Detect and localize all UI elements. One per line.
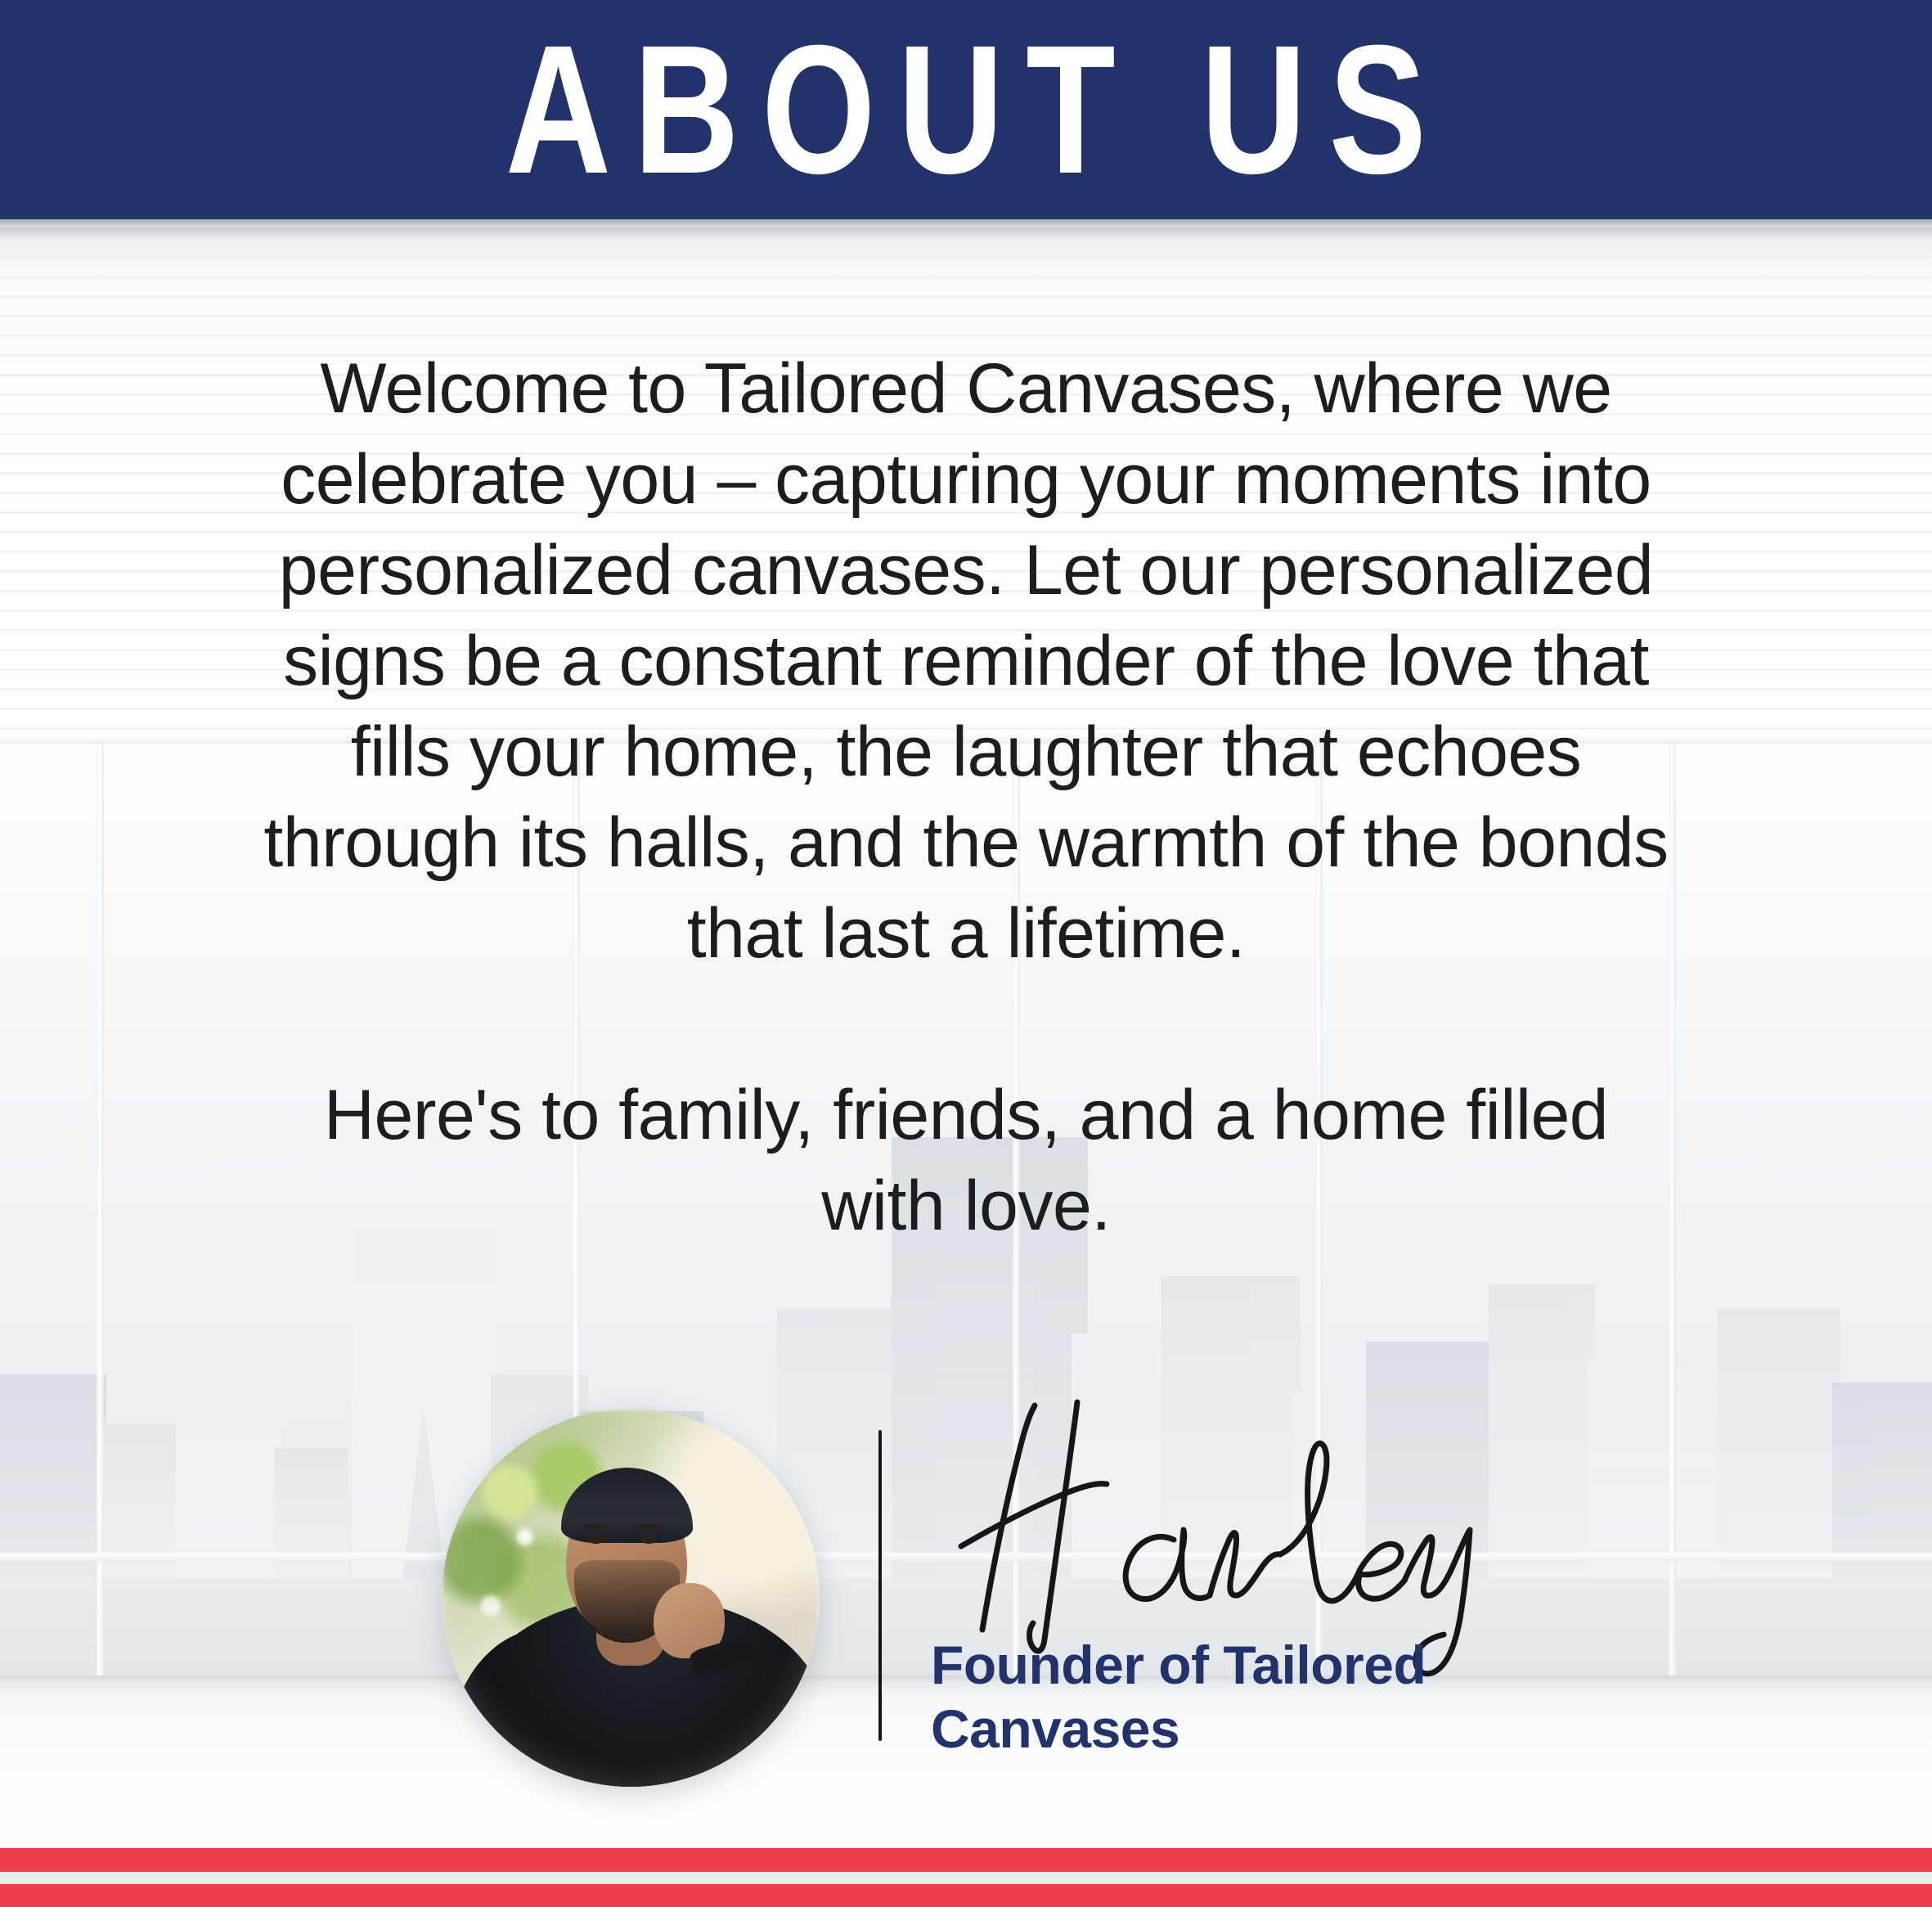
paragraph-1: Welcome to Tailored Canvases, where we c… [254, 344, 1678, 979]
avatar-vignette [442, 1409, 820, 1787]
about-us-poster: ABOUT US Welcome to Tailored Canvases, w… [0, 0, 1932, 1907]
header-banner: ABOUT US [0, 0, 1932, 219]
paragraph-spacer [254, 979, 1678, 1070]
avatar [442, 1409, 820, 1787]
header-drop-shadow [0, 219, 1932, 241]
page-title: ABOUT US [483, 23, 1449, 197]
footer-stripe-gap [0, 1872, 1932, 1884]
footer-stripe-bottom [0, 1884, 1932, 1907]
signature-harley [904, 1384, 1542, 1662]
founder-title-line-1: Founder of Tailored [931, 1633, 1552, 1697]
paragraph-2: Here's to family, friends, and a home fi… [254, 1070, 1678, 1252]
footer-stripe-top [0, 1848, 1932, 1872]
founder-title-line-2: Canvases [931, 1697, 1552, 1761]
founder-title: Founder of Tailored Canvases [931, 1633, 1552, 1761]
vertical-divider [878, 1430, 882, 1741]
founder-block: Founder of Tailored Canvases [0, 1391, 1932, 1816]
about-copy: Welcome to Tailored Canvases, where we c… [254, 344, 1678, 1252]
